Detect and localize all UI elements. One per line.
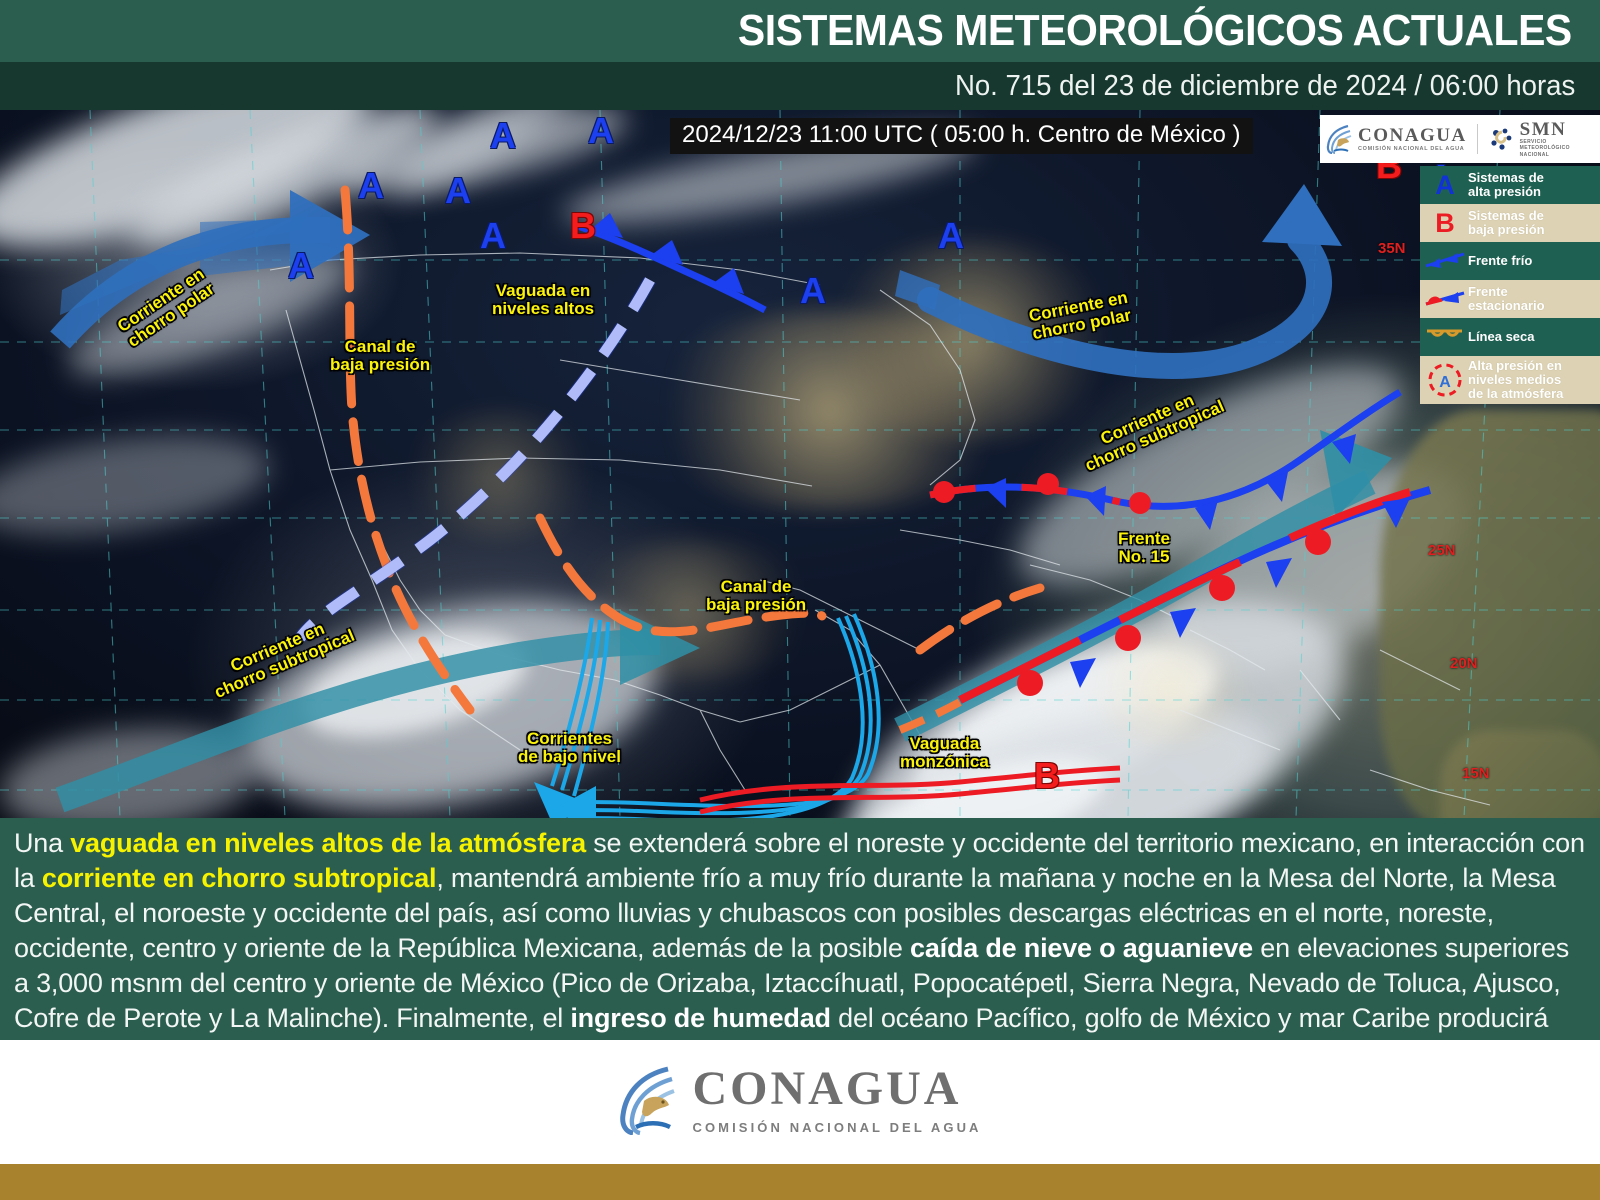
low-level-currents <box>552 618 608 796</box>
conagua-eagle-water-icon <box>1326 124 1352 154</box>
mid-level-high-icon: A <box>1422 360 1468 400</box>
smn-subtitle: SERVICIO METEOROLÓGICO NACIONAL <box>1520 139 1570 158</box>
weather-bulletin-page: SISTEMAS METEOROLÓGICOS ACTUALES No. 715… <box>0 0 1600 1200</box>
conagua-name: CONAGUA <box>1358 126 1467 145</box>
upper-level-trough <box>300 280 650 638</box>
annotation-vaguada-niveles-altos: Vaguada en niveles altos <box>492 282 594 318</box>
smn-wordmark: SMN SERVICIO METEOROLÓGICO NACIONAL <box>1520 120 1570 158</box>
page-title: SISTEMAS METEOROLÓGICOS ACTUALES <box>738 6 1600 56</box>
cloud-band <box>382 110 589 209</box>
upper-level-trough-outline <box>300 280 650 638</box>
cloud-band <box>0 420 275 551</box>
low-pressure-channel-southeast <box>540 518 822 632</box>
low-level-current-arrowhead-2 <box>552 786 596 818</box>
annotation-jet-polar-east: Corriente en chorro polar <box>1028 289 1133 343</box>
high-pressure-symbol: A <box>288 245 314 287</box>
cloud-mass <box>225 568 675 818</box>
forecast-summary-text: Una vaguada en niveles altos de la atmós… <box>0 818 1600 1040</box>
city-lights <box>640 310 1020 510</box>
lat-label-20n: 20N <box>1450 655 1478 672</box>
annotation-corrientes-bajo-nivel: Corrientes de bajo nivel <box>518 730 621 766</box>
header-title-bar: SISTEMAS METEOROLÓGICOS ACTUALES <box>0 0 1600 62</box>
conagua-smn-logo-strip: CONAGUA COMISIÓN NACIONAL DEL AGUA SMN S… <box>1320 115 1600 163</box>
map-timestamp: 2024/12/23 11:00 UTC ( 05:00 h. Centro d… <box>670 118 1253 154</box>
annotation-jet-subtropical-east: Corriente en chorro subtropical <box>1075 381 1227 475</box>
lat-label-25n: 25N <box>1428 542 1456 559</box>
city-lights <box>820 240 1120 440</box>
dry-line-icon <box>1422 326 1468 348</box>
satellite-weather-map[interactable]: 35N 25N 20N 15N 10N A A A A A A A A A B … <box>0 110 1600 818</box>
city-lights <box>1080 630 1260 750</box>
cloud-mass <box>890 608 1240 818</box>
legend-item-low-pressure[interactable]: B Sistemas de baja presión <box>1420 204 1600 242</box>
legend-label: Sistemas de baja presión <box>1468 209 1545 237</box>
lat-label-35n: 35N <box>1378 240 1406 257</box>
polar-jet-stream-west <box>60 190 370 340</box>
low-pressure-channel-caribbean <box>920 588 1040 650</box>
subtropical-jet-stream-west <box>60 610 700 800</box>
annotation-jet-subtropical-west: Corriente en chorro subtropical <box>205 610 357 702</box>
legend-label: Sistemas de alta presión <box>1468 171 1544 199</box>
low-level-current-arrowhead <box>534 782 580 818</box>
legend-label: Línea seca <box>1468 330 1535 344</box>
annotation-frente-15: Frente No. 15 <box>1118 530 1170 566</box>
land-terrain <box>1380 410 1600 818</box>
annotation-canal-baja-presion-se: Canal de baja presión <box>706 578 806 614</box>
city-lights <box>400 410 600 540</box>
svg-text:A: A <box>1439 374 1451 391</box>
low-pressure-symbol: B <box>1034 755 1060 797</box>
legend-item-stationary-front[interactable]: Frente estacionario <box>1420 280 1600 318</box>
cloud-band <box>119 110 451 269</box>
letter-b-red-icon: B <box>1422 208 1468 239</box>
high-pressure-symbol: A <box>445 170 471 212</box>
summary-paragraph: Una vaguada en niveles altos de la atmós… <box>14 826 1586 1072</box>
footer-logo: CONAGUA COMISIÓN NACIONAL DEL AGUA <box>0 1040 1600 1160</box>
cloud-band <box>993 325 1427 626</box>
high-pressure-symbol: A <box>588 110 614 152</box>
bulletin-number-date: No. 715 del 23 de diciembre de 2024 / 06… <box>955 70 1600 103</box>
conagua-eagle-water-icon-footer <box>618 1065 676 1135</box>
smn-name: SMN <box>1520 120 1570 139</box>
legend-label: Frente estacionario <box>1468 285 1545 313</box>
cloud-band <box>1132 422 1498 718</box>
footer-gold-bar <box>0 1164 1600 1200</box>
high-pressure-symbol: A <box>490 115 516 157</box>
conagua-footer-name: CONAGUA <box>692 1065 981 1113</box>
legend-item-cold-front[interactable]: Frente frío <box>1420 242 1600 280</box>
cloud-band <box>57 231 363 399</box>
logo-divider <box>1477 124 1478 154</box>
cloud-mass <box>816 541 1384 818</box>
high-pressure-symbol: A <box>800 270 826 312</box>
conagua-footer-wordmark: CONAGUA COMISIÓN NACIONAL DEL AGUA <box>692 1065 981 1135</box>
high-pressure-symbol: A <box>358 165 384 207</box>
legend-item-mid-level-high[interactable]: A Alta presión en niveles medios de la a… <box>1420 356 1600 404</box>
letter-a-blue-icon: A <box>1422 170 1468 201</box>
annotation-canal-baja-presion-nw: Canal de baja presión <box>330 338 430 374</box>
cloud-mass <box>0 717 265 818</box>
smn-glyph-icon <box>1488 124 1514 154</box>
conagua-footer-subtitle: COMISIÓN NACIONAL DEL AGUA <box>692 1120 981 1135</box>
legend-label: Frente frío <box>1468 254 1532 268</box>
cold-front-us <box>575 213 765 310</box>
low-level-currents-gulf <box>584 614 879 818</box>
subtropical-jet-stream-east <box>900 430 1392 730</box>
cold-front-icon <box>1422 250 1468 272</box>
legend-label: Alta presión en niveles medios de la atm… <box>1468 359 1563 401</box>
low-pressure-symbol: B <box>570 205 596 247</box>
legend-item-high-pressure[interactable]: A Sistemas de alta presión <box>1420 166 1600 204</box>
map-overlay-vectors <box>0 110 1600 818</box>
header-subtitle-bar: No. 715 del 23 de diciembre de 2024 / 06… <box>0 62 1600 110</box>
low-pressure-channel-northwest <box>345 190 470 710</box>
legend-item-dry-line[interactable]: Línea seca <box>1420 318 1600 356</box>
polar-jet-stream-east <box>895 184 1342 366</box>
conagua-wordmark: CONAGUA COMISIÓN NACIONAL DEL AGUA <box>1358 126 1467 153</box>
annotation-jet-polar-west: Corriente en chorro polar <box>115 265 218 351</box>
stationary-front-icon <box>1422 288 1468 310</box>
high-pressure-symbol: A <box>938 215 964 257</box>
lat-label-15n: 15N <box>1462 765 1490 782</box>
cloud-band <box>0 110 388 282</box>
conagua-subtitle: COMISIÓN NACIONAL DEL AGUA <box>1358 147 1467 153</box>
front-no-15 <box>900 490 1430 730</box>
high-pressure-symbol: A <box>480 215 506 257</box>
map-legend: A Sistemas de alta presión B Sistemas de… <box>1420 166 1600 404</box>
annotation-vaguada-monzonica: Vaguada monzónica <box>900 735 989 771</box>
